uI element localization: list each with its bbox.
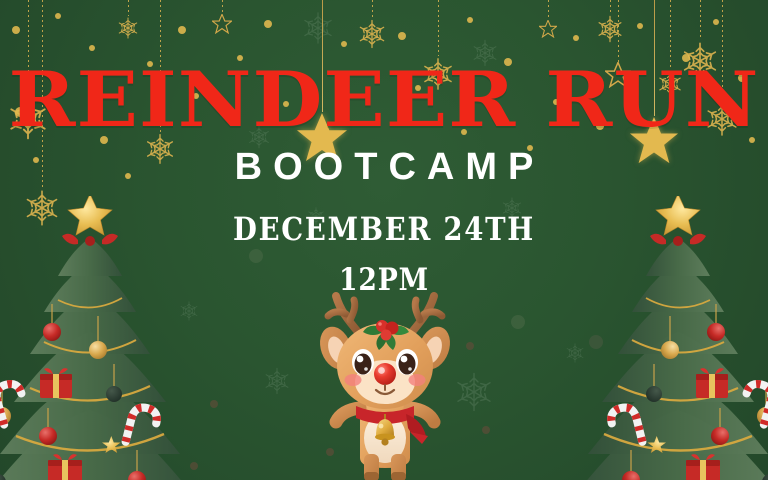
gold-sparkle-dot <box>398 32 406 40</box>
hanging-snowflake-icon <box>116 16 140 45</box>
gold-sparkle-dot <box>89 45 95 51</box>
hanging-star-icon <box>539 20 557 43</box>
christmas-event-poster: REINDEER RUN BOOTCAMP DECEMBER 24TH 12PM <box>0 0 768 480</box>
page-title: REINDEER RUN <box>0 62 768 138</box>
gold-sparkle-dot <box>12 26 20 34</box>
hanging-snowflake-icon <box>595 14 625 49</box>
subtitle: BOOTCAMP <box>0 146 768 189</box>
ornament-string <box>700 0 701 40</box>
hanging-snowflake-icon <box>356 18 388 55</box>
ornament-string <box>610 0 611 14</box>
gold-sparkle-dot <box>264 20 272 28</box>
gold-sparkle-dot <box>178 26 186 34</box>
gold-sparkle-dot <box>713 19 719 25</box>
reindeer-mascot <box>306 286 464 480</box>
hanging-star-icon <box>212 14 232 39</box>
ornament-string <box>548 0 549 20</box>
title-block: REINDEER RUN <box>0 62 768 138</box>
ornament-string <box>438 0 439 56</box>
gold-sparkle-dot <box>637 23 643 29</box>
gold-sparkle-dot <box>341 41 347 47</box>
event-date: DECEMBER 24TH <box>54 210 714 248</box>
gold-sparkle-dot <box>55 13 61 19</box>
ornament-string <box>222 0 223 14</box>
ornament-string <box>372 0 373 18</box>
event-time: 12PM <box>54 262 714 298</box>
gold-sparkle-dot <box>467 17 473 23</box>
ornament-string <box>128 0 129 16</box>
gold-sparkle-dot <box>573 35 579 41</box>
